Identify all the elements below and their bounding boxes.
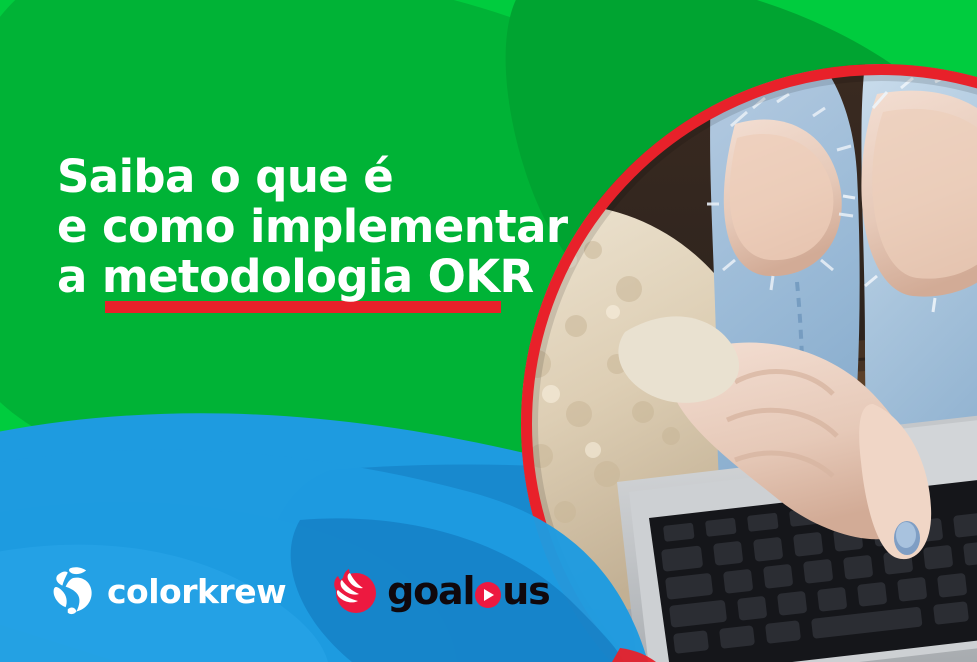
headline-line-3: a metodologia OKR [57,252,567,302]
goalous-wordmark-part1: goal [387,572,474,610]
headline-line-2: e como implementar [57,202,567,252]
goalous-wordmark-part2: us [502,572,549,610]
goalous-play-o-icon [475,582,501,608]
colorkrew-sphere-icon [44,564,98,618]
goalous-flame-icon [330,566,380,616]
logo-row: colorkrew goal us [44,558,550,624]
goalous-logo[interactable]: goal us [330,566,549,616]
colorkrew-wordmark: colorkrew [107,575,286,608]
colorkrew-logo[interactable]: colorkrew [44,564,286,618]
headline-line-1: Saiba o que é [57,152,567,202]
okr-marketing-banner: Saiba o que é e como implementar a metod… [0,0,977,662]
headline-line-3-prefix: a [57,250,102,303]
page-title: Saiba o que é e como implementar a metod… [57,152,567,302]
goalous-wordmark: goal us [387,572,549,610]
headline-emphasis: metodologia OKR [102,252,534,302]
